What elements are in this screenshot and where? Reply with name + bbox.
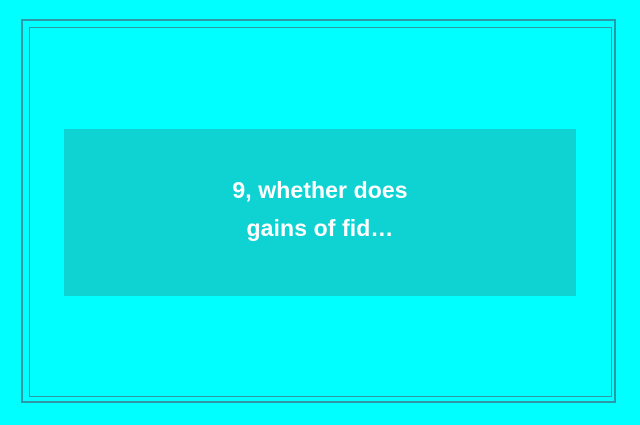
panel-text-block: 9, whether does gains of fid… (64, 171, 576, 247)
slide-canvas: 9, whether does gains of fid… (0, 0, 640, 425)
panel-text-line-1: 9, whether does (64, 171, 576, 209)
content-panel: 9, whether does gains of fid… (64, 129, 576, 296)
panel-text-line-2: gains of fid… (64, 209, 576, 247)
